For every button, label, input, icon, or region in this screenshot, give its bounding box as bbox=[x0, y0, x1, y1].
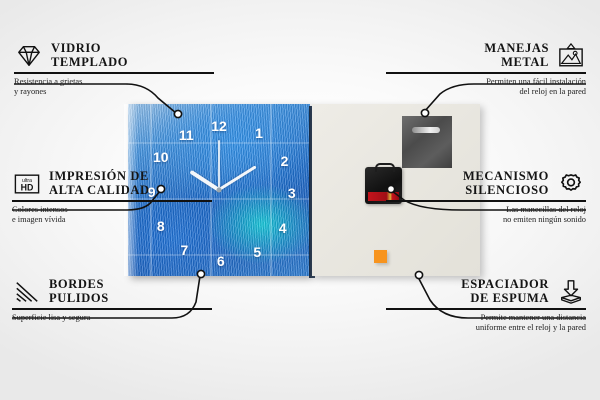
feature-title-line2: TEMPLADO bbox=[51, 56, 128, 70]
clock-numeral-12: 12 bbox=[211, 119, 227, 133]
feature-divider bbox=[12, 200, 212, 202]
clock-second-hand bbox=[218, 140, 220, 188]
feature-desc-line1: Las manecillas del reloj bbox=[386, 205, 586, 216]
foam-spacer-icon bbox=[556, 279, 586, 305]
feature-vidrio-templado[interactable]: VIDRIO TEMPLADO Resistencia a grietas y … bbox=[14, 42, 214, 98]
feature-divider bbox=[14, 72, 214, 74]
feature-bordes-pulidos[interactable]: BORDES PULIDOS Superficie lisa y segura bbox=[12, 278, 212, 323]
feature-title-line2: ALTA CALIDAD bbox=[49, 184, 150, 198]
diamond-icon bbox=[14, 43, 44, 69]
clock-numeral-6: 6 bbox=[217, 254, 225, 268]
feature-divider bbox=[386, 308, 586, 310]
feature-desc-line2: e imagen vívida bbox=[12, 215, 212, 226]
clock-numeral-1: 1 bbox=[255, 126, 263, 140]
feature-espaciador-espuma[interactable]: ESPACIADOR DE ESPUMA Permite mantener un… bbox=[386, 278, 586, 334]
feature-desc-line1: Permiten una fácil instalación bbox=[386, 77, 586, 88]
infographic-canvas: 12 1 2 3 4 5 6 7 8 9 10 11 bbox=[0, 0, 600, 400]
clock-numeral-11: 11 bbox=[179, 128, 194, 142]
feature-manejas-metal[interactable]: MANEJAS METAL Permiten una fácil instala… bbox=[386, 42, 586, 98]
foam-spacer-pad bbox=[374, 250, 387, 263]
svg-text:HD: HD bbox=[21, 182, 34, 192]
feature-title-line2: SILENCIOSO bbox=[463, 184, 549, 198]
feature-mecanismo-silencioso[interactable]: MECANISMO SILENCIOSO Las manecillas del … bbox=[386, 170, 586, 226]
feature-desc-line2: del reloj en la pared bbox=[386, 87, 586, 98]
framed-picture-icon bbox=[556, 43, 586, 69]
feature-desc-line1: Permite mantener una distancia bbox=[386, 313, 586, 324]
clock-center-pin bbox=[217, 188, 222, 193]
clock-numeral-4: 4 bbox=[279, 221, 287, 235]
ultra-hd-icon: ultra HD bbox=[12, 171, 42, 197]
feature-title-line1: IMPRESIÓN DE bbox=[49, 170, 150, 184]
feature-title-line1: VIDRIO bbox=[51, 42, 128, 56]
clock-numeral-7: 7 bbox=[181, 243, 189, 257]
feature-title-line1: MECANISMO bbox=[463, 170, 549, 184]
clock-numeral-5: 5 bbox=[253, 245, 261, 259]
feature-title-line1: BORDES bbox=[49, 278, 109, 292]
feature-title-line1: MANEJAS bbox=[484, 42, 549, 56]
polished-edges-icon bbox=[12, 279, 42, 305]
clock-numeral-10: 10 bbox=[153, 150, 169, 164]
clock-numeral-3: 3 bbox=[288, 186, 296, 200]
hanger-keyhole-slot bbox=[412, 127, 440, 133]
feature-title-line2: METAL bbox=[484, 56, 549, 70]
gear-icon bbox=[556, 171, 586, 197]
feature-divider bbox=[386, 72, 586, 74]
clock-numeral-2: 2 bbox=[281, 154, 289, 168]
feature-desc-line2: no emiten ningún sonido bbox=[386, 215, 586, 226]
metal-hanger-plate bbox=[402, 116, 452, 168]
feature-title-line2: DE ESPUMA bbox=[461, 292, 549, 306]
feature-desc-line1: Superficie lisa y segura bbox=[12, 313, 212, 324]
feature-impresion-alta-calidad[interactable]: ultra HD IMPRESIÓN DE ALTA CALIDAD Color… bbox=[12, 170, 212, 226]
feature-title-line2: PULIDOS bbox=[49, 292, 109, 306]
feature-desc-line2: uniforme entre el reloj y la pared bbox=[386, 323, 586, 334]
feature-title-line1: ESPACIADOR bbox=[461, 278, 549, 292]
feature-divider bbox=[12, 308, 212, 310]
feature-desc-line2: y rayones bbox=[14, 87, 214, 98]
feature-desc-line1: Colores intensos bbox=[12, 205, 212, 216]
feature-divider bbox=[386, 200, 586, 202]
feature-desc-line1: Resistencia a grietas bbox=[14, 77, 214, 88]
